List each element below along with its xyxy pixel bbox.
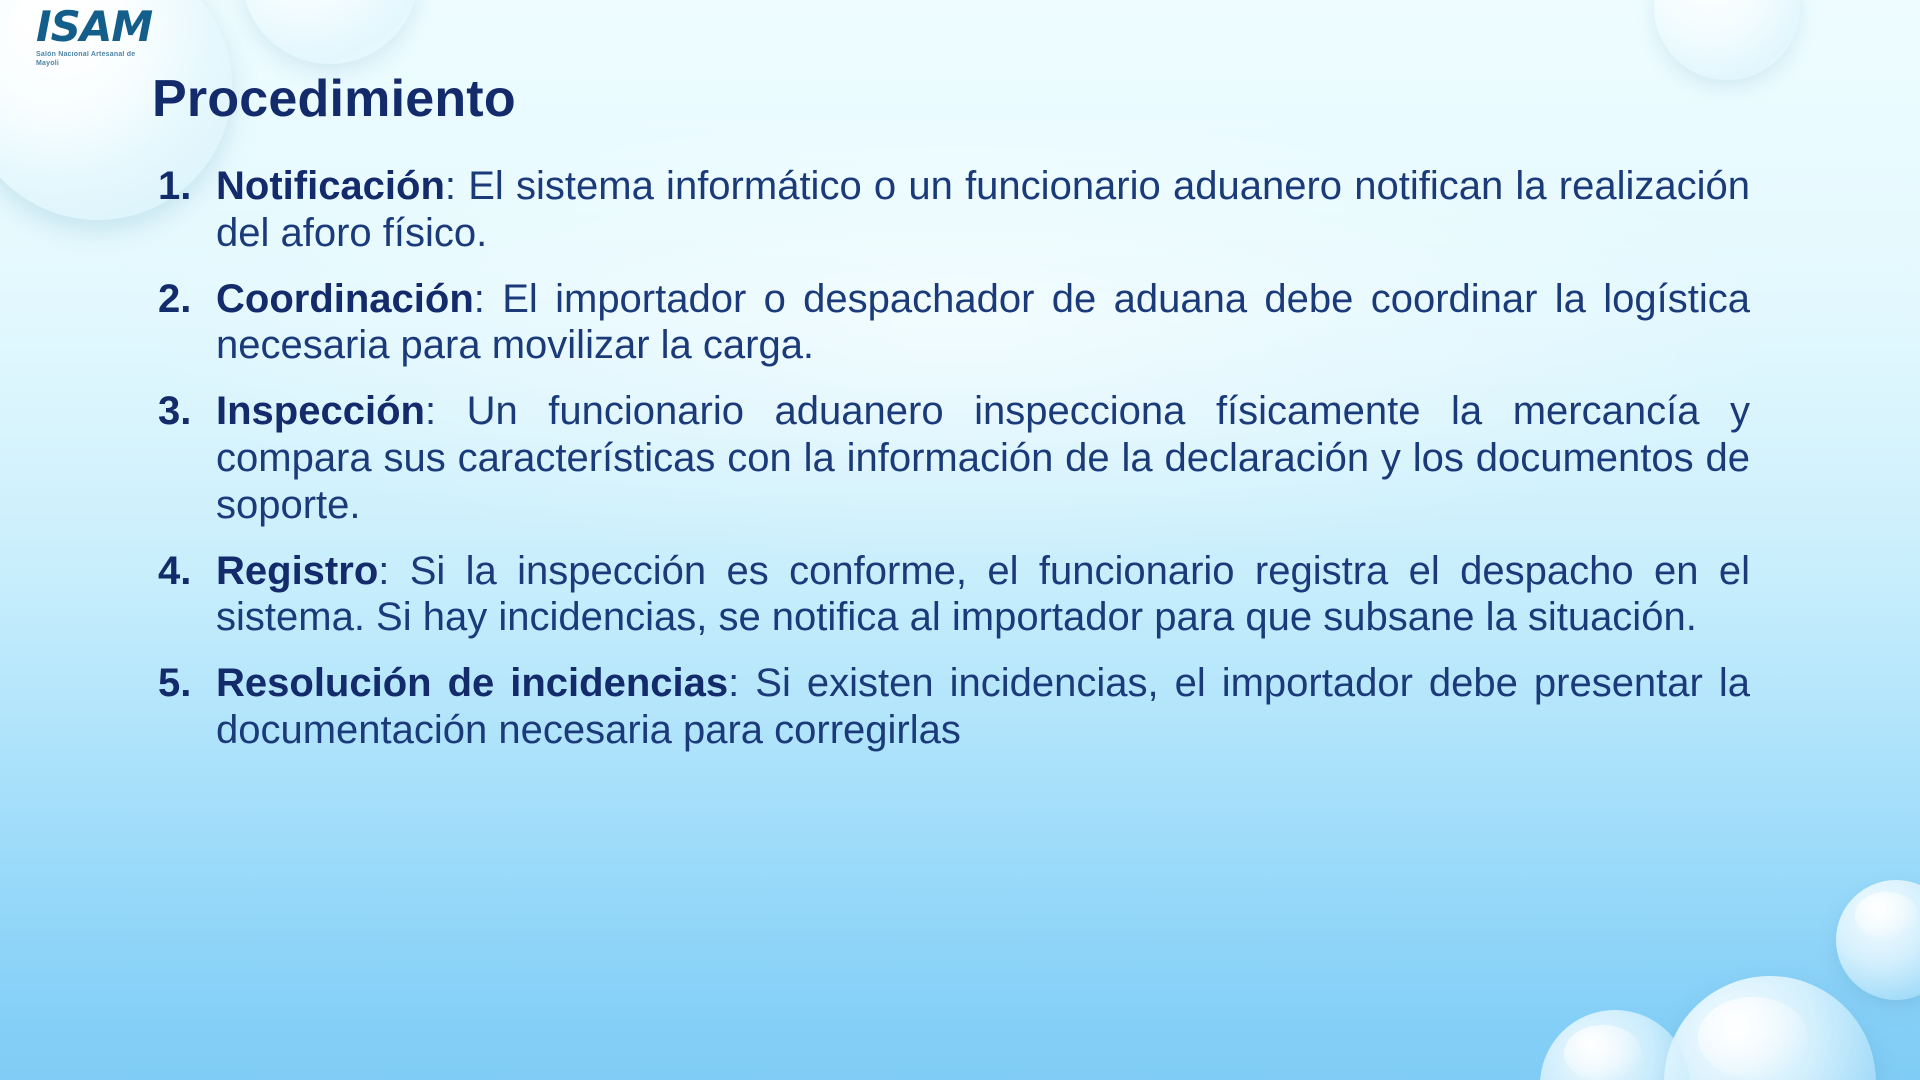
- page-title: Procedimiento: [152, 72, 516, 127]
- list-item-lead: Coordinación: [216, 277, 474, 321]
- list-item-separator: :: [474, 277, 502, 321]
- procedure-list: 1. Notificación: El sistema informático …: [150, 163, 1750, 773]
- list-item-separator: :: [445, 164, 468, 208]
- list-item-body: Resolución de incidencias: Si existen in…: [216, 660, 1750, 754]
- list-item: 3. Inspección: Un funcionario aduanero i…: [150, 388, 1750, 528]
- list-item-body: Registro: Si la inspección es conforme, …: [216, 548, 1750, 642]
- list-item-body: Inspección: Un funcionario aduanero insp…: [216, 388, 1750, 528]
- list-item-number: 2.: [150, 276, 216, 323]
- list-item-body: Notificación: El sistema informático o u…: [216, 163, 1750, 257]
- slide-content: Procedimiento 1. Notificación: El sistem…: [0, 0, 1920, 1080]
- list-item-body: Coordinación: El importador o despachado…: [216, 276, 1750, 370]
- list-item-number: 3.: [150, 388, 216, 435]
- list-item-text: Si la inspección es conforme, el funcion…: [216, 549, 1750, 640]
- list-item: 2. Coordinación: El importador o despach…: [150, 276, 1750, 370]
- list-item: 1. Notificación: El sistema informático …: [150, 163, 1750, 257]
- list-item-separator: :: [425, 389, 467, 433]
- slide-canvas: ISAM Salón Nacional Artesanal de Mayoli …: [0, 0, 1920, 1080]
- list-item-number: 1.: [150, 163, 216, 210]
- list-item-number: 4.: [150, 548, 216, 595]
- list-item-lead: Registro: [216, 549, 378, 593]
- list-item-lead: Resolución de incidencias: [216, 661, 728, 705]
- list-item-separator: :: [378, 549, 409, 593]
- list-item: 4. Registro: Si la inspección es conform…: [150, 548, 1750, 642]
- list-item: 5. Resolución de incidencias: Si existen…: [150, 660, 1750, 754]
- list-item-separator: :: [728, 661, 755, 705]
- list-item-number: 5.: [150, 660, 216, 707]
- list-item-lead: Inspección: [216, 389, 425, 433]
- list-item-lead: Notificación: [216, 164, 445, 208]
